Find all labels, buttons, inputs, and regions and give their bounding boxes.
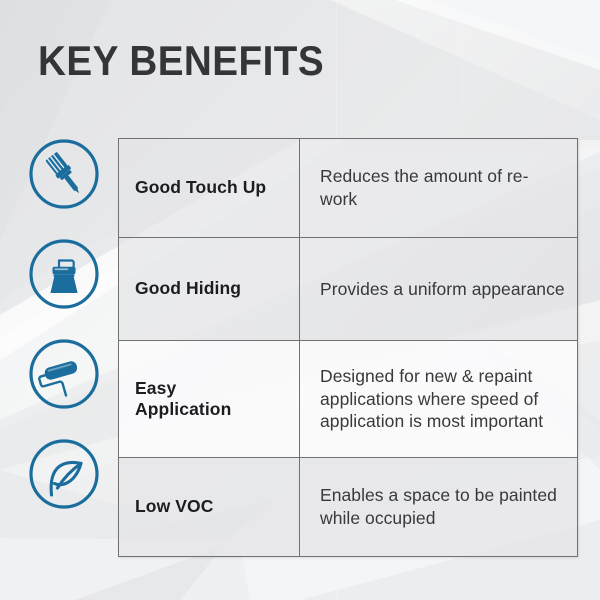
benefit-term-line: Good Hiding xyxy=(135,278,289,299)
paint-roller-icon xyxy=(28,338,100,410)
benefit-term: Easy Application xyxy=(119,341,300,458)
benefit-icon-rail xyxy=(28,138,100,528)
benefit-term-line: Good Touch Up xyxy=(135,177,289,198)
benefit-description: Enables a space to be painted while occu… xyxy=(300,458,578,557)
key-benefits-infographic: KEY BENEFITS xyxy=(0,0,600,600)
benefit-term: Good Touch Up xyxy=(119,139,300,238)
table-row: Low VOC Enables a space to be painted wh… xyxy=(119,458,578,557)
benefit-term: Low VOC xyxy=(119,458,300,557)
leaf-icon xyxy=(28,438,100,510)
benefit-term-line: Application xyxy=(135,399,289,420)
benefit-description-line: Provides a uniform appearance xyxy=(320,278,565,301)
table-row: Good Touch Up Reduces the amount of re-w… xyxy=(119,139,578,238)
benefit-description: Designed for new & repaint applications … xyxy=(300,341,578,458)
benefit-description: Reduces the amount of re-work xyxy=(300,139,578,238)
table-row: Easy Application Designed for new & repa… xyxy=(119,341,578,458)
benefit-term-line: Easy xyxy=(135,378,289,399)
paint-roller-tray-icon xyxy=(28,238,100,310)
paint-brush-icon xyxy=(28,138,100,210)
benefit-description-line: application is most important xyxy=(320,410,565,433)
page-title: KEY BENEFITS xyxy=(38,40,324,82)
benefit-description-line: Reduces the amount of re-work xyxy=(320,165,565,211)
benefit-description-line: Designed for new & repaint xyxy=(320,365,565,388)
benefit-description: Provides a uniform appearance xyxy=(300,238,578,341)
benefits-table: Good Touch Up Reduces the amount of re-w… xyxy=(118,138,578,557)
benefit-description-line: while occupied xyxy=(320,507,565,530)
table-row: Good Hiding Provides a uniform appearanc… xyxy=(119,238,578,341)
benefit-description-line: applications where speed of xyxy=(320,388,565,411)
benefit-term-line: Low VOC xyxy=(135,496,289,517)
benefit-description-line: Enables a space to be painted xyxy=(320,484,565,507)
benefit-term: Good Hiding xyxy=(119,238,300,341)
